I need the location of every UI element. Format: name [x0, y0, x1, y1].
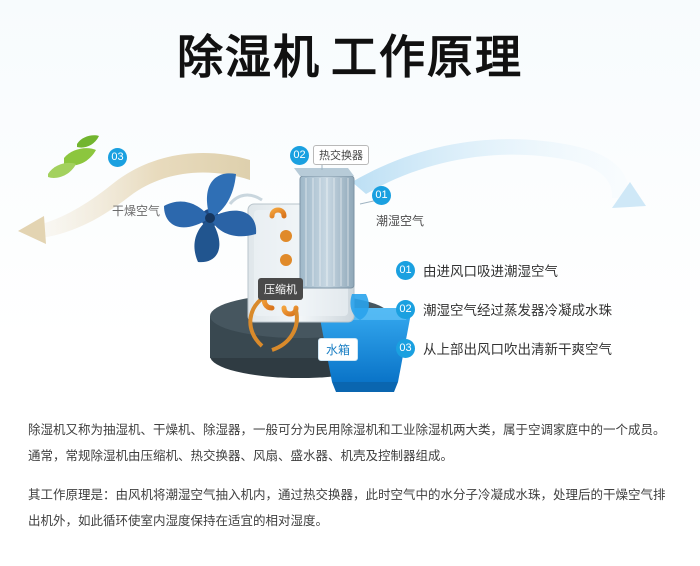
page-title: 除湿机工作原理 [0, 30, 700, 85]
page-root: 除湿机工作原理 [0, 0, 700, 566]
paragraph-1: 除湿机又称为抽湿机、干燥机、除湿器，一般可分为民用除湿机和工业除湿机两大类，属于… [28, 418, 674, 469]
steps-list: 01 由进风口吸进潮湿空气 02 潮湿空气经过蒸发器冷凝成水珠 03 从上部出风… [396, 260, 696, 377]
badge-01: 01 [372, 186, 391, 205]
diagram-label-03: 03 [108, 148, 127, 167]
diagram-label-02-text: 热交换器 [313, 145, 369, 165]
title-part-1: 除湿机 [177, 31, 321, 83]
list-item: 03 从上部出风口吹出清新干爽空气 [396, 338, 696, 358]
description-block: 除湿机又称为抽湿机、干燥机、除湿器，一般可分为民用除湿机和工业除湿机两大类，属于… [28, 418, 674, 549]
badge-03: 03 [108, 148, 127, 167]
diagram-label-02: 02热交换器 [290, 145, 369, 165]
diagram-label-01-text: 潮湿空气 [376, 212, 424, 229]
badge-step-01: 01 [396, 261, 415, 280]
diagram-label-03-text: 干燥空气 [112, 202, 160, 219]
step-text-03: 从上部出风口吹出清新干爽空气 [423, 338, 612, 358]
badge-02: 02 [290, 146, 309, 165]
list-item: 02 潮湿空气经过蒸发器冷凝成水珠 [396, 299, 696, 319]
badge-step-02: 02 [396, 300, 415, 319]
step-text-02: 潮湿空气经过蒸发器冷凝成水珠 [423, 299, 612, 319]
step-text-01: 由进风口吸进潮湿空气 [423, 260, 558, 280]
list-item: 01 由进风口吸进潮湿空气 [396, 260, 696, 280]
dehumidifier-illustration: 03 干燥空气 02热交换器 01 潮湿空气 压缩机 水箱 01 由进风口吸进潮… [0, 120, 700, 410]
tag-water-tank: 水箱 [318, 338, 358, 361]
tag-compressor: 压缩机 [258, 278, 303, 300]
diagram-label-01: 01 [372, 186, 391, 205]
title-part-2: 工作原理 [331, 31, 523, 83]
paragraph-2: 其工作原理是：由风机将潮湿空气抽入机内，通过热交换器，此时空气中的水分子冷凝成水… [28, 483, 674, 534]
badge-step-03: 03 [396, 339, 415, 358]
